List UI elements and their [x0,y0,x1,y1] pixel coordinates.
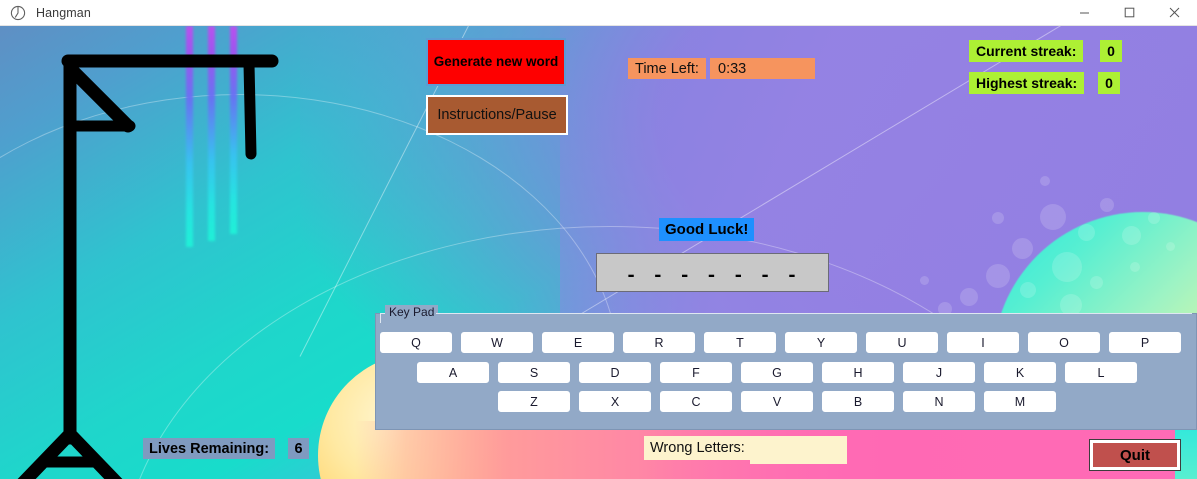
hangman-circle-icon [10,5,26,21]
word-display-panel: - - - - - - - [596,253,829,292]
gallows-brace [70,68,128,126]
key-b[interactable]: B [822,391,894,412]
key-d[interactable]: D [579,362,651,383]
hangman-app-window: Hangman [0,0,1197,479]
key-x[interactable]: X [579,391,651,412]
key-p[interactable]: P [1109,332,1181,353]
keypad-row-1: QWERTYUIOP [380,332,1190,353]
generate-new-word-button[interactable]: Generate new word [426,38,566,86]
key-w[interactable]: W [461,332,533,353]
key-a[interactable]: A [417,362,489,383]
key-u[interactable]: U [866,332,938,353]
wrong-letters-label: Wrong Letters: [644,436,751,460]
key-o[interactable]: O [1028,332,1100,353]
key-z[interactable]: Z [498,391,570,412]
key-y[interactable]: Y [785,332,857,353]
key-e[interactable]: E [542,332,614,353]
highest-streak-label: Highest streak: [969,72,1084,94]
key-n[interactable]: N [903,391,975,412]
minimize-icon [1079,7,1090,18]
key-m[interactable]: M [984,391,1056,412]
keypad-row-3: ZXCVBNM [498,391,1065,412]
key-f[interactable]: F [660,362,732,383]
gallows-rope [249,64,251,154]
keypad-border-line-vert [380,313,381,323]
key-q[interactable]: Q [380,332,452,353]
time-left-value: 0:33 [710,58,815,79]
status-message: Good Luck! [659,218,754,241]
keypad-legend: Key Pad [385,305,438,319]
lives-remaining-value: 6 [288,438,309,459]
keypad-row-2: ASDFGHJKL [417,362,1146,383]
key-t[interactable]: T [704,332,776,353]
instructions-pause-button[interactable]: Instructions/Pause [426,95,568,135]
keypad-panel: Key Pad QWERTYUIOP ASDFGHJKL ZXCVBNM [375,313,1197,430]
key-v[interactable]: V [741,391,813,412]
minimize-button[interactable] [1062,0,1107,26]
key-c[interactable]: C [660,391,732,412]
maximize-icon [1124,7,1135,18]
title-bar: Hangman [0,0,1197,26]
keypad-border-line [436,313,1192,314]
close-button[interactable] [1152,0,1197,26]
time-left-label: Time Left: [628,58,706,79]
current-streak-label: Current streak: [969,40,1083,62]
word-display-text: - - - - - - - [625,265,799,287]
key-i[interactable]: I [947,332,1019,353]
window-title: Hangman [36,6,91,20]
key-r[interactable]: R [623,332,695,353]
current-streak-value: 0 [1100,40,1122,62]
key-s[interactable]: S [498,362,570,383]
window-controls [1062,0,1197,26]
key-g[interactable]: G [741,362,813,383]
lives-remaining-label: Lives Remaining: [143,438,275,459]
highest-streak-value: 0 [1098,72,1120,94]
quit-button[interactable]: Quit [1090,440,1180,470]
key-h[interactable]: H [822,362,894,383]
key-j[interactable]: J [903,362,975,383]
key-l[interactable]: L [1065,362,1137,383]
maximize-button[interactable] [1107,0,1152,26]
close-icon [1169,7,1180,18]
key-k[interactable]: K [984,362,1056,383]
wrong-letters-input[interactable] [750,436,847,464]
gallows-drawing [0,26,330,479]
